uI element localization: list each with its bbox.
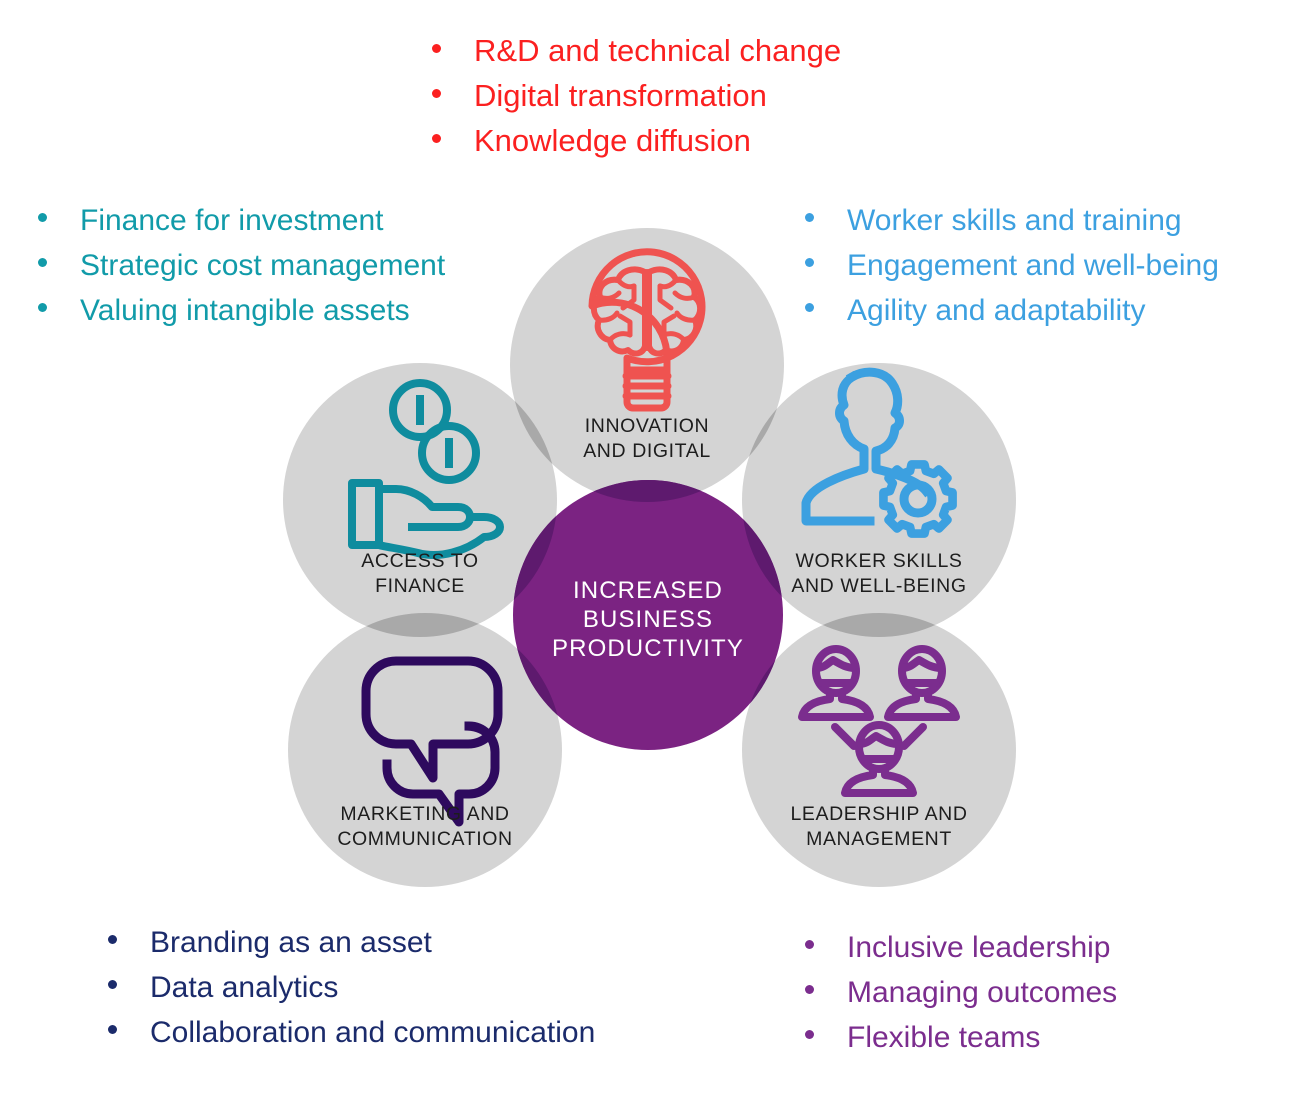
petal-label-line: COMMUNICATION (337, 828, 512, 850)
petal-label-line: MANAGEMENT (806, 828, 952, 850)
center-label-line: INCREASED (573, 577, 723, 604)
petal-label-line: WORKER SKILLS (795, 550, 962, 572)
petal-label-line: LEADERSHIP AND (790, 803, 967, 825)
petal-label-line: INNOVATION (585, 415, 709, 437)
petal-label-line: MARKETING AND (340, 803, 509, 825)
center-label-line: BUSINESS (583, 606, 713, 633)
petal-label-line: AND DIGITAL (583, 440, 711, 462)
petal-diagram: INNOVATION AND DIGITAL WORKER SKILLS AND… (0, 0, 1309, 1093)
petal-label-line: AND WELL-BEING (791, 575, 966, 597)
petal-label-line: FINANCE (375, 575, 465, 597)
center-label-line: PRODUCTIVITY (552, 635, 744, 662)
petal-label-line: ACCESS TO (361, 550, 478, 572)
